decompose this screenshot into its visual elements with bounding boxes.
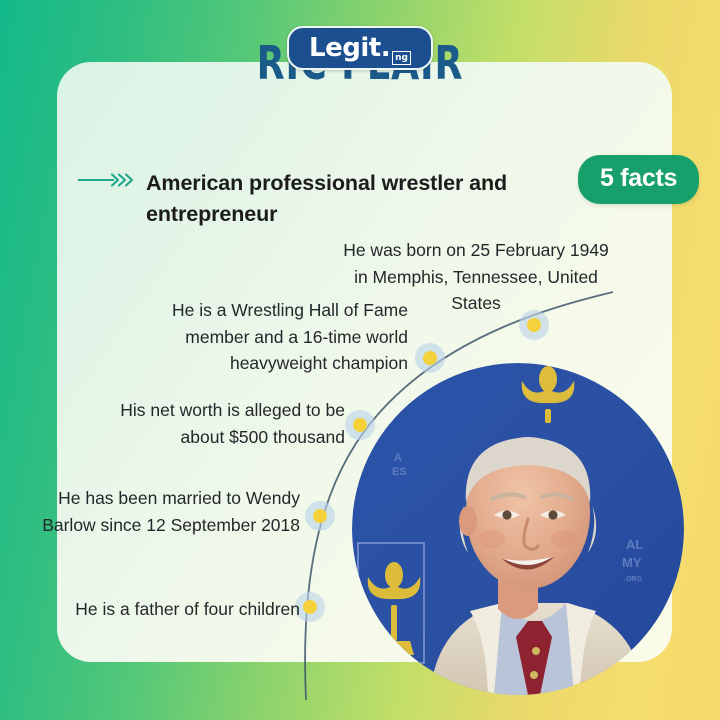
fact-item-2: He is a Wrestling Hall of Fame member an… [130,297,408,377]
brand-logo-container: Legit. ng [0,26,720,70]
subject-photo-illustration: A ES AL MY .ORG [352,363,684,695]
page-subtitle: American professional wrestler and entre… [146,168,548,229]
svg-text:.ORG: .ORG [624,576,642,583]
fact-item-3: His net worth is alleged to be about $50… [90,397,345,450]
arrow-right-chevrons-icon [78,172,134,193]
svg-text:A: A [394,452,402,464]
subtitle-row: American professional wrestler and entre… [78,168,548,229]
logo-wordmark: Legit. [309,35,390,61]
svg-text:MY: MY [622,555,642,570]
fact-item-4: He has been married to Wendy Barlow sinc… [30,485,300,538]
logo-domain-badge: ng [392,51,411,65]
subject-photo: A ES AL MY .ORG [352,363,684,695]
svg-text:AL: AL [626,537,643,552]
legit-logo[interactable]: Legit. ng [287,26,433,70]
fact-item-5: He is a father of four children [40,596,300,623]
svg-text:ES: ES [392,466,407,478]
facts-count-badge: 5 facts [578,155,699,204]
